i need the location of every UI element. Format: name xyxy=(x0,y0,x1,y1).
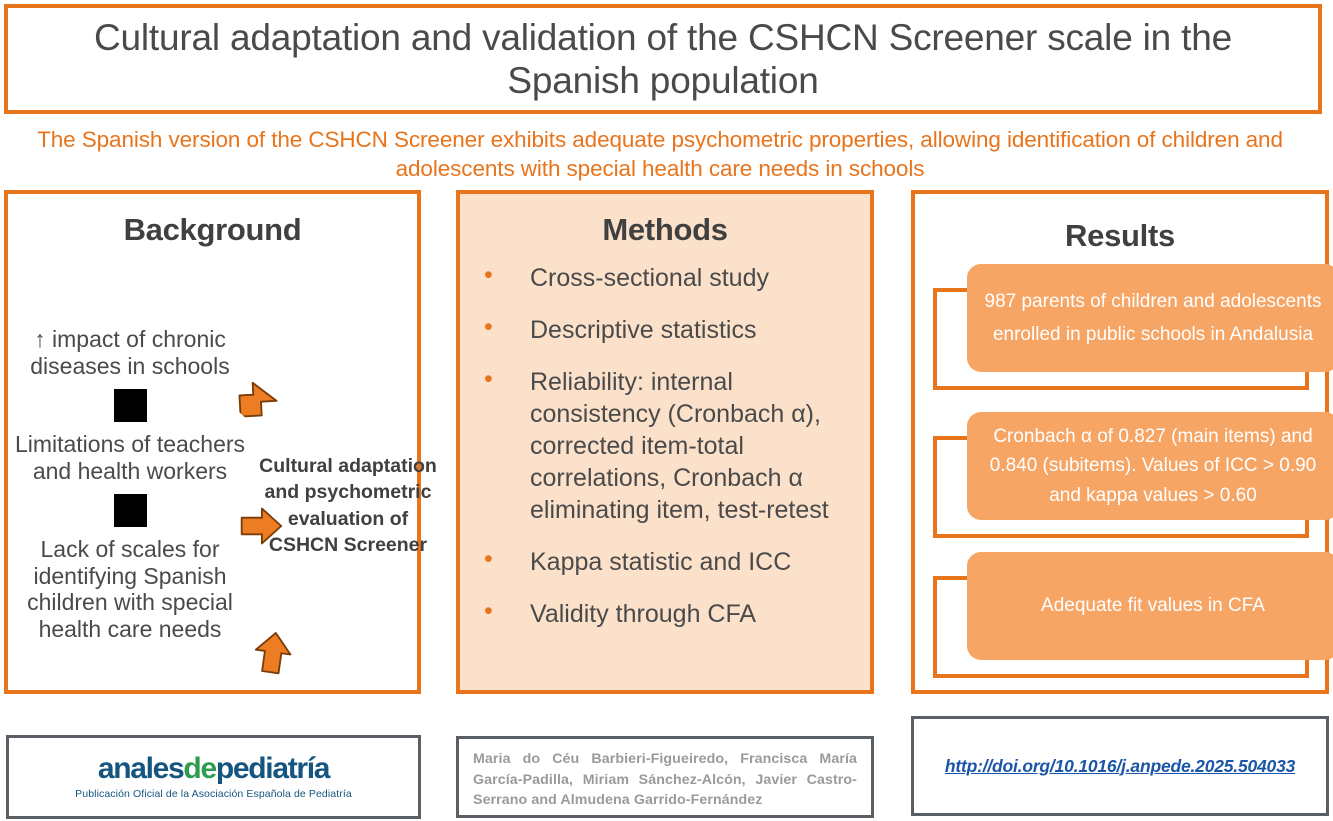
page-title: Cultural adaptation and validation of th… xyxy=(8,16,1318,103)
background-step-2: Limitations of teachers and health worke… xyxy=(10,431,250,485)
doi-link[interactable]: http://doi.org/10.1016/j.anpede.2025.504… xyxy=(945,756,1295,777)
doi-box: http://doi.org/10.1016/j.anpede.2025.504… xyxy=(911,716,1329,816)
poster-subtitle: The Spanish version of the CSHCN Screene… xyxy=(20,126,1300,183)
result-item: 987 parents of children and adolescents … xyxy=(915,264,1325,392)
result-item: Cronbach α of 0.827 (main items) and 0.8… xyxy=(915,412,1325,540)
missing-glyph-box-icon xyxy=(114,494,147,527)
background-step-1: ↑ impact of chronic diseases in schools xyxy=(10,326,250,380)
journal-logo-wordmark: analesdepediatría xyxy=(98,754,329,784)
panel-heading-methods: Methods xyxy=(460,212,870,248)
result-item: Adequate fit values in CFA xyxy=(915,552,1325,680)
logo-part-de: de xyxy=(183,752,215,785)
result-card-text: 987 parents of children and adolescents … xyxy=(967,264,1333,372)
poster-title-box: Cultural adaptation and validation of th… xyxy=(4,4,1322,114)
logo-part-anales: anales xyxy=(98,752,184,785)
doi-wrapper: http://doi.org/10.1016/j.anpede.2025.504… xyxy=(914,719,1326,813)
journal-logo: analesdepediatría Publicación Oficial de… xyxy=(9,738,418,816)
arrow-up-right-icon xyxy=(241,621,306,686)
logo-part-pediatria: pediatría xyxy=(216,752,329,785)
panel-heading-background: Background xyxy=(8,212,417,248)
authors-box: Maria do Céu Barbieri-Figueiredo, Franci… xyxy=(456,736,874,818)
background-goal-text: Cultural adaptation and psychometric eva… xyxy=(258,453,438,558)
journal-logo-box: analesdepediatría Publicación Oficial de… xyxy=(6,735,421,819)
panel-heading-results: Results xyxy=(915,218,1325,254)
missing-glyph-box-icon xyxy=(114,389,147,422)
list-item: Descriptive statistics xyxy=(472,314,856,346)
list-item: Validity through CFA xyxy=(472,598,856,630)
result-card-text: Adequate fit values in CFA xyxy=(967,552,1333,660)
results-list: 987 parents of children and adolescents … xyxy=(915,264,1325,684)
background-step-3: Lack of scales for identifying Spanish c… xyxy=(10,536,250,644)
panel-methods: Methods Cross-sectional study Descriptiv… xyxy=(456,190,874,694)
panel-background: Background ↑ impact of chronic diseases … xyxy=(4,190,421,694)
background-flow: ↑ impact of chronic diseases in schools … xyxy=(8,248,417,688)
background-chain: ↑ impact of chronic diseases in schools … xyxy=(10,326,250,643)
panel-results: Results 987 parents of children and adol… xyxy=(911,190,1329,694)
methods-list: Cross-sectional study Descriptive statis… xyxy=(460,262,870,630)
result-card-text: Cronbach α of 0.827 (main items) and 0.8… xyxy=(967,412,1333,520)
list-item: Reliability: internal consistency (Cronb… xyxy=(472,366,856,526)
list-item: Cross-sectional study xyxy=(472,262,856,294)
journal-logo-tagline: Publicación Oficial de la Asociación Esp… xyxy=(75,788,352,800)
list-item: Kappa statistic and ICC xyxy=(472,546,856,578)
authors-list: Maria do Céu Barbieri-Figueiredo, Franci… xyxy=(459,739,871,821)
